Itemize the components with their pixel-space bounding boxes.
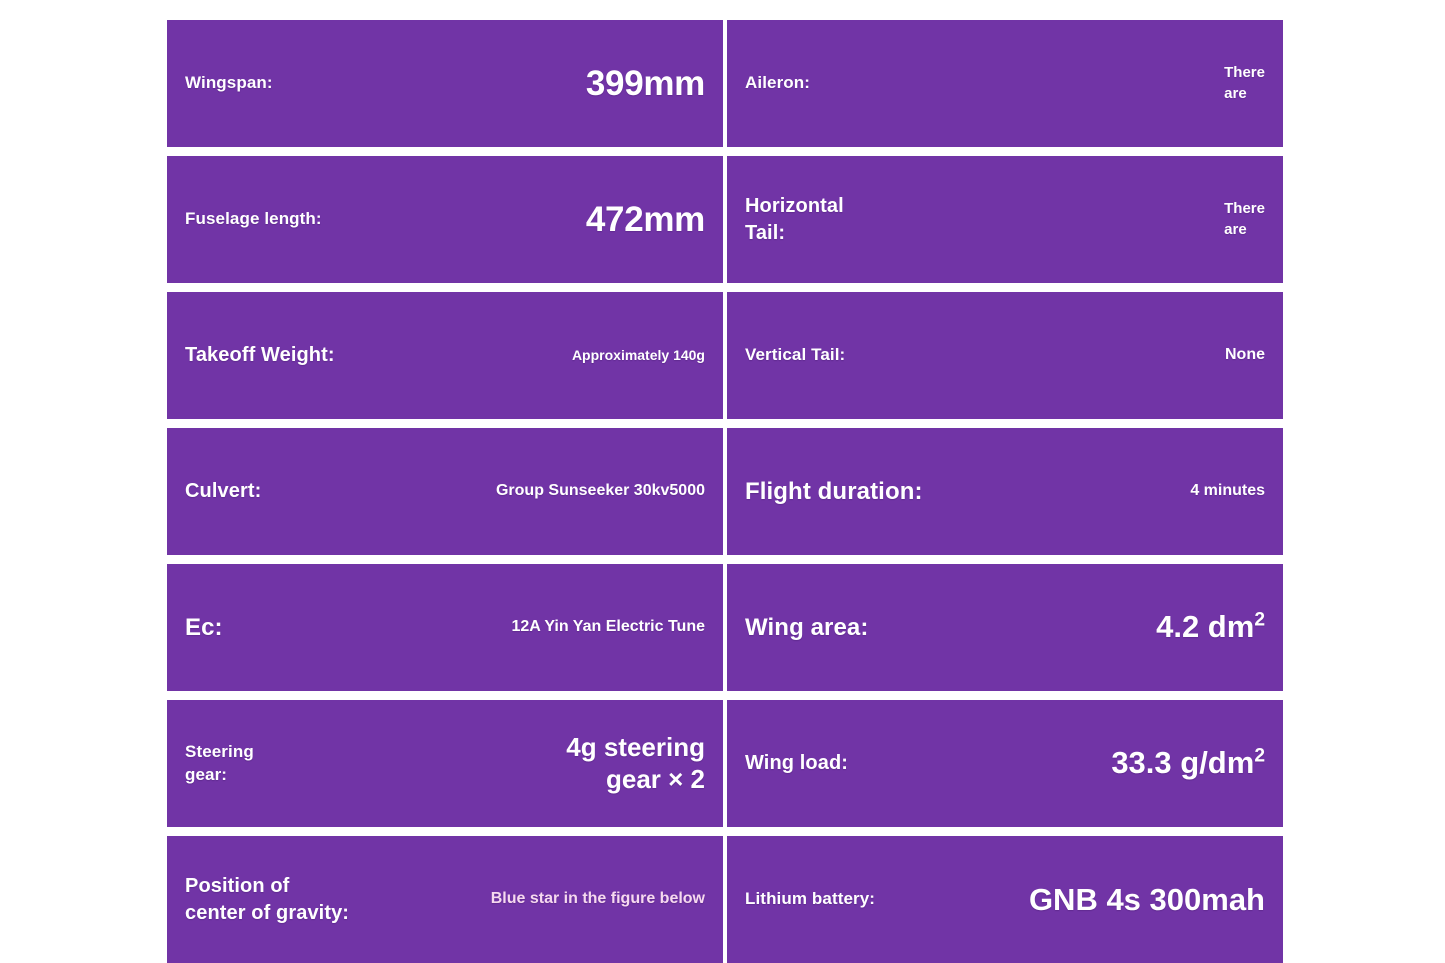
- spec-cell-horizontal-tail: Horizontal Tail: There are: [727, 156, 1283, 283]
- spec-cell-vertical-tail: Vertical Tail: None: [727, 292, 1283, 419]
- spec-cell-esc: Ec: 12A Yin Yan Electric Tune: [167, 564, 723, 691]
- table-row: Wingspan: 399mm Aileron: There are: [167, 20, 1283, 147]
- spec-label: Fuselage length:: [185, 208, 322, 230]
- spec-label: Wing load:: [745, 750, 848, 776]
- spec-label: Ec:: [185, 612, 223, 644]
- spec-cell-lithium-battery: Lithium battery: GNB 4s 300mah: [727, 836, 1283, 963]
- spec-value: GNB 4s 300mah: [1029, 881, 1265, 918]
- spec-cell-steering-gear: Steering gear: 4g steering gear × 2: [167, 700, 723, 827]
- spec-value: Approximately 140g: [572, 346, 705, 364]
- spec-label: Wingspan:: [185, 72, 273, 94]
- spec-cell-wingspan: Wingspan: 399mm: [167, 20, 723, 147]
- spec-value: There are: [1224, 199, 1265, 240]
- spec-label: Wing area:: [745, 612, 868, 644]
- spec-value: Group Sunseeker 30kv5000: [496, 481, 705, 502]
- spec-cell-flight-duration: Flight duration: 4 minutes: [727, 428, 1283, 555]
- spec-label: Steering gear:: [185, 741, 254, 786]
- table-row: Steering gear: 4g steering gear × 2 Wing…: [167, 700, 1283, 827]
- spec-cell-center-of-gravity: Position of center of gravity: Blue star…: [167, 836, 723, 963]
- spec-value-main: 33.3 g/dm: [1111, 745, 1254, 780]
- spec-label: Flight duration:: [745, 476, 923, 508]
- spec-value: 4g steering gear × 2: [566, 732, 705, 794]
- spec-value: 4 minutes: [1190, 481, 1265, 502]
- spec-label: Horizontal Tail:: [745, 193, 844, 246]
- spec-value: There are: [1224, 63, 1265, 104]
- spec-label: Lithium battery:: [745, 888, 875, 910]
- spec-value-exponent: 2: [1254, 610, 1265, 631]
- spec-value-main: 4.2 dm: [1156, 609, 1254, 644]
- spec-value: 4.2 dm2: [1156, 607, 1265, 647]
- spec-cell-wing-load: Wing load: 33.3 g/dm2: [727, 700, 1283, 827]
- table-row: Ec: 12A Yin Yan Electric Tune Wing area:…: [167, 564, 1283, 691]
- spec-cell-takeoff-weight: Takeoff Weight: Approximately 140g: [167, 292, 723, 419]
- spec-label: Culvert:: [185, 478, 261, 504]
- spec-value: None: [1225, 345, 1265, 366]
- spec-label: Position of center of gravity:: [185, 873, 349, 926]
- spec-value: 12A Yin Yan Electric Tune: [511, 617, 705, 638]
- spec-cell-culvert: Culvert: Group Sunseeker 30kv5000: [167, 428, 723, 555]
- spec-label: Aileron:: [745, 72, 810, 94]
- table-row: Culvert: Group Sunseeker 30kv5000 Flight…: [167, 428, 1283, 555]
- spec-label: Takeoff Weight:: [185, 342, 335, 368]
- spec-label: Vertical Tail:: [745, 344, 845, 366]
- table-row: Takeoff Weight: Approximately 140g Verti…: [167, 292, 1283, 419]
- spec-table: Wingspan: 399mm Aileron: There are Fusel…: [167, 20, 1283, 919]
- spec-value: 472mm: [586, 197, 705, 243]
- spec-value: 399mm: [586, 61, 705, 107]
- spec-value-exponent: 2: [1254, 746, 1265, 767]
- table-row: Position of center of gravity: Blue star…: [167, 836, 1283, 963]
- spec-cell-fuselage-length: Fuselage length: 472mm: [167, 156, 723, 283]
- spec-cell-aileron: Aileron: There are: [727, 20, 1283, 147]
- table-row: Fuselage length: 472mm Horizontal Tail: …: [167, 156, 1283, 283]
- spec-cell-wing-area: Wing area: 4.2 dm2: [727, 564, 1283, 691]
- spec-value: Blue star in the figure below: [491, 889, 705, 910]
- spec-value: 33.3 g/dm2: [1111, 743, 1265, 783]
